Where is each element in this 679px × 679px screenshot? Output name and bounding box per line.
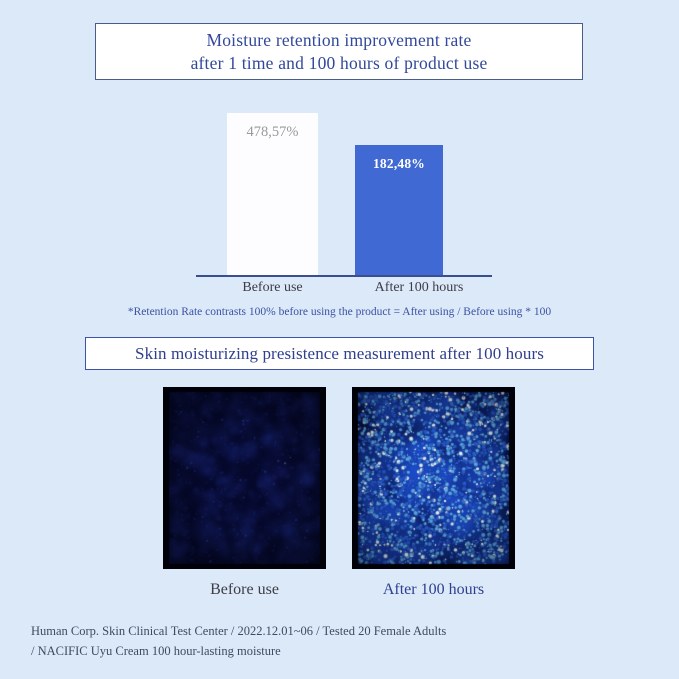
bar-plot-area: 478,57% 182,48%: [196, 100, 492, 275]
microscopy-image-after: [352, 387, 515, 569]
microscopy-canvas-after: [352, 387, 515, 569]
credit-line-1: Human Corp. Skin Clinical Test Center / …: [31, 621, 651, 641]
axis-label-before-use: Before use: [204, 280, 341, 296]
title-box: Moisture retention improvement rate afte…: [95, 23, 583, 80]
microscopy-panels: [0, 387, 679, 569]
axis-label-after-100-hours: After 100 hours: [346, 280, 492, 296]
infographic-page: Moisture retention improvement rate afte…: [0, 0, 679, 679]
chart-axis-line: [196, 275, 492, 277]
chart-axis-labels: Before use After 100 hours: [196, 280, 492, 302]
title-line-1: Moisture retention improvement rate: [206, 29, 471, 52]
title-line-2: after 1 time and 100 hours of product us…: [191, 52, 488, 75]
section-header-text: Skin moisturizing presistence measuremen…: [135, 344, 544, 364]
study-credit: Human Corp. Skin Clinical Test Center / …: [31, 621, 651, 661]
credit-line-2: / NACIFIC Uyu Cream 100 hour-lasting moi…: [31, 641, 651, 661]
microscopy-captions: Before use After 100 hours: [0, 581, 679, 605]
section-header-box: Skin moisturizing presistence measuremen…: [85, 337, 594, 370]
bar-after-100-hours: 182,48%: [355, 145, 443, 275]
bar-value-before: 478,57%: [227, 124, 318, 141]
microscopy-canvas-before: [163, 387, 326, 569]
microscopy-image-before: [163, 387, 326, 569]
bar-value-after: 182,48%: [355, 156, 443, 172]
microscopy-caption-after: After 100 hours: [352, 581, 515, 599]
microscopy-caption-before: Before use: [163, 581, 326, 599]
bar-chart: 478,57% 182,48% Before use After 100 hou…: [0, 100, 679, 300]
chart-footnote: *Retention Rate contrasts 100% before us…: [0, 306, 679, 318]
bar-before-use: 478,57%: [227, 113, 318, 275]
